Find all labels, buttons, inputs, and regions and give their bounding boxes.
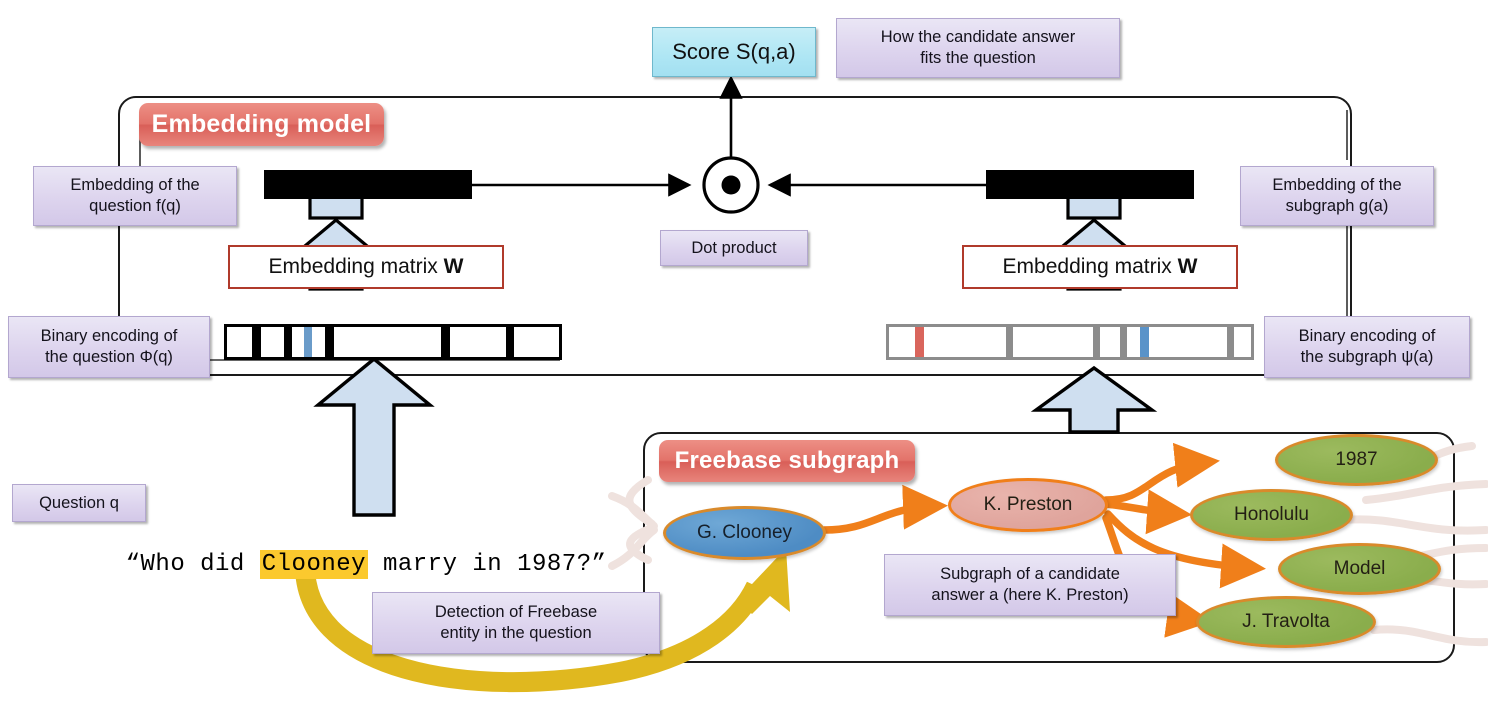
- bin-seg: [252, 327, 261, 357]
- graph-node-label: 1987: [1335, 449, 1377, 471]
- bin-seg: [1120, 327, 1127, 357]
- embedding-matrix-right: Embedding matrix W: [962, 245, 1238, 289]
- bin-seg: [1006, 327, 1013, 357]
- callout-binary-encoding-subgraph: Binary encoding of the subgraph ψ(a): [1264, 316, 1470, 378]
- bin-seg: [284, 327, 292, 357]
- question-prefix: “Who did: [126, 551, 260, 578]
- callout-embedding-of-subgraph: Embedding of the subgraph g(a): [1240, 166, 1434, 226]
- graph-node-honolulu[interactable]: Honolulu: [1190, 489, 1353, 541]
- graph-node-label: J. Travolta: [1242, 611, 1330, 633]
- binary-encoding-strip-subgraph: [886, 324, 1254, 360]
- question-suffix: marry in 1987?”: [368, 551, 606, 578]
- graph-node-label: G. Clooney: [697, 522, 792, 544]
- question-text: “Who did Clooney marry in 1987?”: [66, 524, 607, 605]
- bin-seg: [441, 327, 450, 357]
- binary-encoding-strip-question: [224, 324, 562, 360]
- callout-subgraph-of-candidate-answer: Subgraph of a candidate answer a (here K…: [884, 554, 1176, 616]
- bin-seg: [1093, 327, 1100, 357]
- graph-node-model[interactable]: Model: [1278, 543, 1441, 595]
- subgraph-embedding-vector: [986, 170, 1194, 199]
- bin-seg-active: [915, 327, 924, 357]
- embedding-matrix-right-label: Embedding matrix W: [1003, 255, 1198, 279]
- graph-node-1987[interactable]: 1987: [1275, 434, 1438, 486]
- question-embedding-vector: [264, 170, 472, 199]
- bin-seg: [1227, 327, 1234, 357]
- block-arrow-left-big: [318, 359, 430, 515]
- graph-node-label: Honolulu: [1234, 504, 1309, 526]
- embedding-matrix-left: Embedding matrix W: [228, 245, 504, 289]
- score-label: Score S(q,a): [672, 39, 796, 65]
- bin-seg: [506, 327, 514, 357]
- callout-binary-encoding-question: Binary encoding of the question Φ(q): [8, 316, 210, 378]
- graph-node-label: Model: [1334, 558, 1386, 580]
- bin-seg-active: [1140, 327, 1149, 357]
- graph-node-label: K. Preston: [984, 494, 1073, 516]
- embedding-model-banner: Embedding model: [139, 103, 384, 146]
- callout-dot-product: Dot product: [660, 230, 808, 266]
- block-arrow-right-big: [1036, 368, 1152, 432]
- bin-seg-active: [304, 327, 312, 357]
- callout-question-label: Question q: [12, 484, 146, 522]
- graph-node-g-clooney[interactable]: G. Clooney: [663, 506, 826, 560]
- graph-node-j-travolta[interactable]: J. Travolta: [1196, 596, 1376, 648]
- callout-embedding-of-question: Embedding of the question f(q): [33, 166, 237, 226]
- question-highlight-entity: Clooney: [260, 550, 368, 579]
- embedding-matrix-left-label: Embedding matrix W: [269, 255, 464, 279]
- score-box: Score S(q,a): [652, 27, 816, 77]
- bin-seg: [325, 327, 334, 357]
- diagram-canvas: Embedding model Score S(q,a) How the can…: [0, 0, 1488, 706]
- graph-node-k-preston[interactable]: K. Preston: [948, 478, 1108, 532]
- freebase-subgraph-banner: Freebase subgraph: [659, 440, 915, 482]
- callout-how-candidate-fits: How the candidate answer fits the questi…: [836, 18, 1120, 78]
